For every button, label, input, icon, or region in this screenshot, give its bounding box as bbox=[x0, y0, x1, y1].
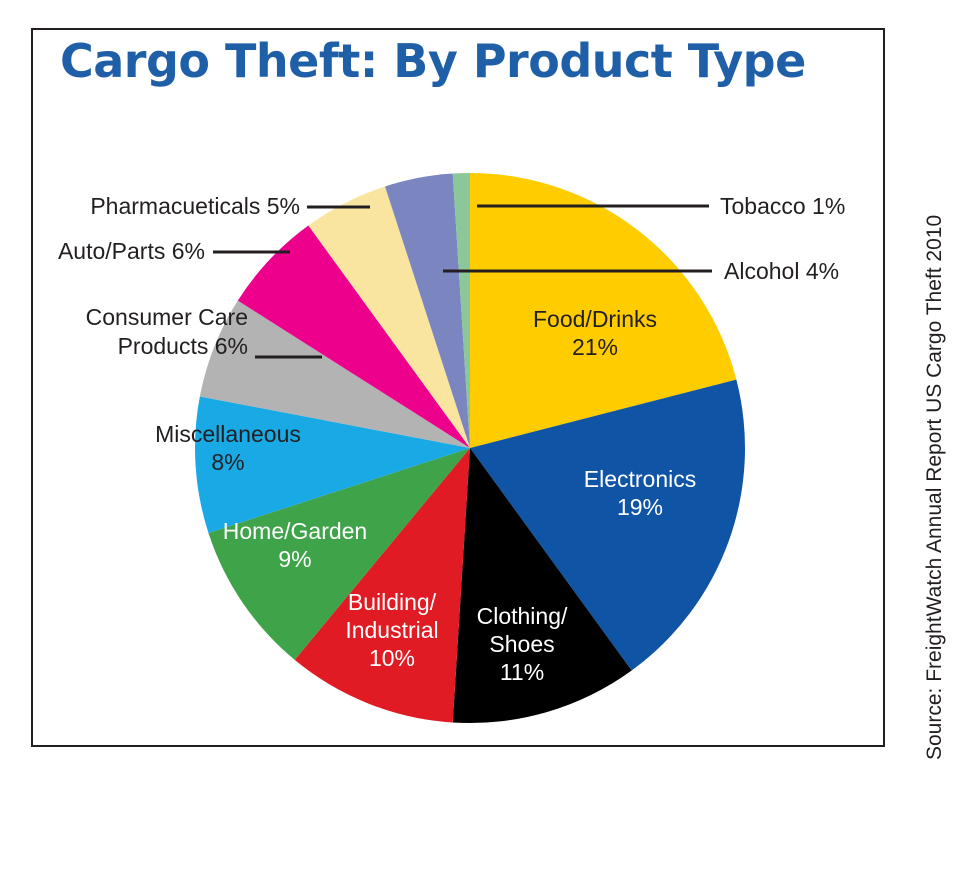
slice-label-electronics: Electronics 19% bbox=[550, 465, 730, 521]
slice-label-home-garden: Home/Garden 9% bbox=[200, 517, 390, 573]
callout-label-alcohol: Alcohol 4% bbox=[724, 257, 839, 286]
slice-label-miscellaneous: Miscellaneous 8% bbox=[133, 420, 323, 476]
page-title: Cargo Theft: By Product Type bbox=[60, 34, 860, 88]
chart-page: Cargo Theft: By Product Type Source: Fre… bbox=[0, 0, 980, 881]
callout-label-tobacco: Tobacco 1% bbox=[720, 192, 845, 221]
slice-label-building-industrial: Building/ Industrial 10% bbox=[312, 588, 472, 672]
slice-label-food-drinks: Food/Drinks 21% bbox=[505, 305, 685, 361]
source-credit: Source: FreightWatch Annual Report US Ca… bbox=[920, 40, 950, 760]
callout-label-pharmacueticals: Pharmacueticals 5% bbox=[20, 192, 300, 221]
callout-label-auto-parts: Auto/Parts 6% bbox=[20, 237, 205, 266]
callout-label-consumer-care: Consumer Care Products 6% bbox=[20, 303, 248, 361]
